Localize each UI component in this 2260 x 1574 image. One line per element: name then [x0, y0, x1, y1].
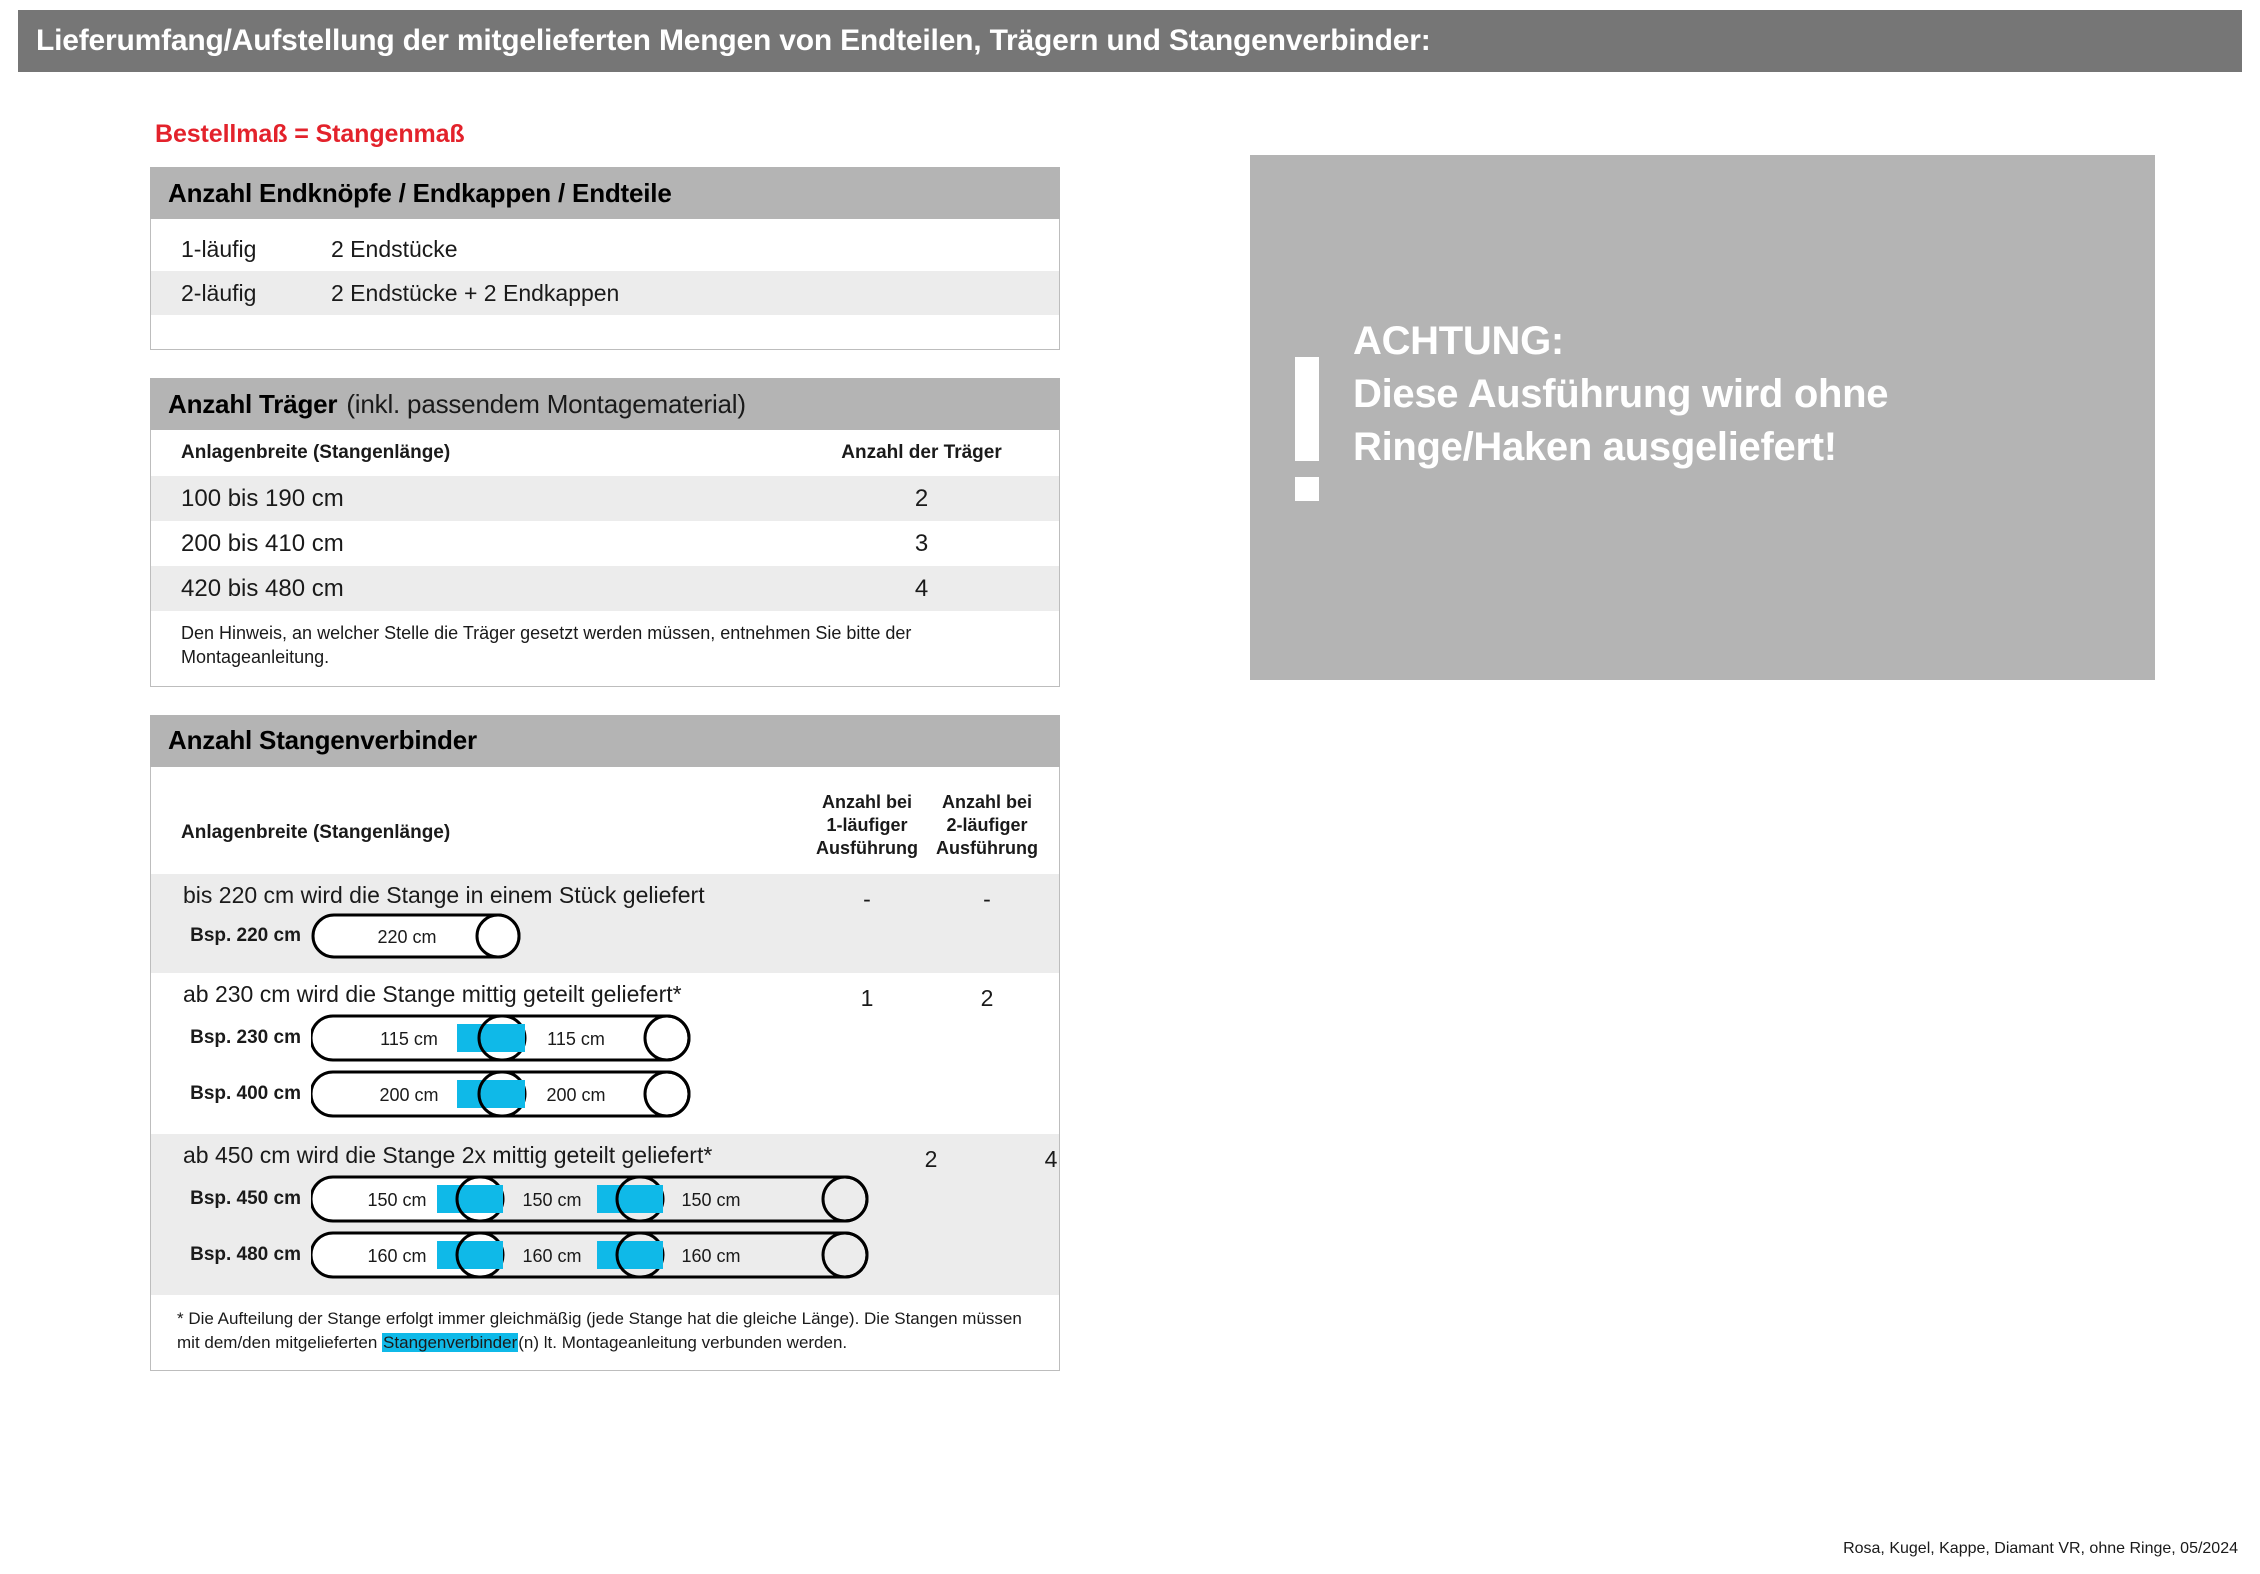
rod-segment-label: 160 cm: [367, 1246, 426, 1266]
table-row: 200 bis 410 cm 3: [151, 521, 1059, 566]
exclamation-bar: [1295, 357, 1319, 461]
table-row: 420 bis 480 cm 4: [151, 566, 1059, 611]
rod-segment-label: 115 cm: [380, 1029, 438, 1049]
group-caption: bis 220 cm wird die Stange in einem Stüc…: [151, 882, 807, 909]
rod-segment-label: 150 cm: [367, 1190, 426, 1210]
left-content-column: Bestellmaß = Stangenmaß Anzahl Endknöpfe…: [150, 120, 1060, 1399]
attention-line-3: Ringe/Haken ausgeliefert!: [1353, 421, 1888, 474]
connector-block: [457, 1080, 525, 1108]
section-traeger: Anzahl Träger (inkl. passendem Montagema…: [150, 378, 1060, 687]
connector-block: [597, 1241, 663, 1269]
traeger-count: 3: [814, 530, 1029, 558]
column-header-line: Ausführung: [807, 837, 927, 860]
column-header-anzahl-traeger: Anzahl der Träger: [814, 442, 1029, 464]
page-title: Lieferumfang/Aufstellung der mitgeliefer…: [18, 24, 1431, 58]
traeger-width: 100 bis 190 cm: [181, 485, 814, 513]
connector-block: [437, 1241, 503, 1269]
rod-example-label: Bsp. 230 cm: [151, 1027, 311, 1049]
section-traeger-body: Anlagenbreite (Stangenlänge) Anzahl der …: [150, 430, 1060, 687]
footnote-highlight: Stangenverbinder: [382, 1333, 518, 1352]
column-header-line: 2-läufiger: [927, 814, 1047, 837]
section-traeger-header: Anzahl Träger (inkl. passendem Montagema…: [150, 378, 1060, 430]
rod-diagram-400: 200 cm 200 cm: [311, 1068, 691, 1120]
column-header-anzahl-1laeufig: Anzahl bei 1-läufiger Ausführung: [807, 791, 927, 860]
rod-segment-label: 115 cm: [547, 1029, 605, 1049]
rod-example-label: Bsp. 220 cm: [151, 925, 311, 947]
column-header-line: Anzahl bei: [807, 791, 927, 814]
column-header-anzahl-2laeufig: Anzahl bei 2-läufiger Ausführung: [927, 791, 1047, 860]
table-header-row: Anlagenbreite (Stangenlänge) Anzahl der …: [151, 430, 1059, 476]
traeger-width: 420 bis 480 cm: [181, 575, 814, 603]
group-count-2laeufig: 2: [927, 973, 1047, 1012]
rod-example: Bsp. 220 cm 220 cm: [151, 913, 807, 959]
column-header-anlagenbreite: Anlagenbreite (Stangenlänge): [151, 822, 807, 860]
connector-block: [437, 1185, 503, 1213]
section-stangenverbinder-title: Anzahl Stangenverbinder: [168, 725, 477, 756]
group-caption: ab 450 cm wird die Stange 2x mittig gete…: [151, 1142, 871, 1169]
exclamation-icon: [1295, 315, 1319, 501]
endteile-parts: 2 Endstücke + 2 Endkappen: [331, 280, 1059, 307]
group-content: ab 450 cm wird die Stange 2x mittig gete…: [151, 1134, 871, 1295]
group-count-1laeufig: 2: [871, 1134, 991, 1173]
rod-segment-label: 150 cm: [681, 1190, 740, 1210]
section-endteile: Anzahl Endknöpfe / Endkappen / Endteile …: [150, 167, 1060, 350]
rod-segment-label: 220 cm: [377, 927, 436, 947]
rod-example: Bsp. 480 cm 160 cm 160 cm 160 cm: [151, 1229, 871, 1281]
rod-segment-label: 160 cm: [522, 1246, 581, 1266]
table-header-row: Anlagenbreite (Stangenlänge) Anzahl bei …: [151, 767, 1059, 874]
column-header-line: 1-läufiger: [807, 814, 927, 837]
attention-line-1: ACHTUNG:: [1353, 315, 1888, 368]
table-row: 100 bis 190 cm 2: [151, 476, 1059, 521]
section-endteile-header: Anzahl Endknöpfe / Endkappen / Endteile: [150, 167, 1060, 219]
section-traeger-subtitle: (inkl. passendem Montagematerial): [346, 389, 745, 420]
attention-box: ACHTUNG: Diese Ausführung wird ohne Ring…: [1250, 155, 2155, 680]
connector-block: [457, 1024, 525, 1052]
group-content: ab 230 cm wird die Stange mittig geteilt…: [151, 973, 807, 1134]
group-count-2laeufig: 4: [991, 1134, 1111, 1173]
footnote-text-part2: (n) lt. Montageanleitung verbunden werde…: [518, 1333, 847, 1352]
rod-example: Bsp. 230 cm 115 cm 115 cm: [151, 1012, 807, 1064]
table-row: 1-läufig 2 Endstücke: [151, 227, 1059, 271]
rod-diagram-450: 150 cm 150 cm 150 cm: [311, 1173, 871, 1225]
rod-segment-label: 200 cm: [379, 1085, 438, 1105]
attention-content: ACHTUNG: Diese Ausführung wird ohne Ring…: [1295, 315, 1888, 501]
attention-line-2: Diese Ausführung wird ohne: [1353, 368, 1888, 421]
rod-example-label: Bsp. 400 cm: [151, 1083, 311, 1105]
exclamation-dot: [1295, 477, 1319, 501]
connector-block: [597, 1185, 663, 1213]
rod-diagram-220: 220 cm: [311, 913, 521, 959]
group-count-2laeufig: -: [927, 874, 1047, 913]
group-caption: ab 230 cm wird die Stange mittig geteilt…: [151, 981, 807, 1008]
rod-segment-label: 160 cm: [681, 1246, 740, 1266]
endteile-parts: 2 Endstücke: [331, 236, 1059, 263]
footer-note: Rosa, Kugel, Kappe, Diamant VR, ohne Rin…: [1843, 1540, 2238, 1558]
subtitle-bestellmass: Bestellmaß = Stangenmaß: [155, 120, 1060, 149]
column-header-line: Ausführung: [927, 837, 1047, 860]
column-header-line: Anzahl bei: [927, 791, 1047, 814]
rod-example-label: Bsp. 450 cm: [151, 1188, 311, 1210]
section-endteile-body: 1-läufig 2 Endstücke 2-läufig 2 Endstück…: [150, 219, 1060, 350]
rod-example: Bsp. 450 cm 150 cm 150 cm 150 cm: [151, 1173, 871, 1225]
rod-diagram-230: 115 cm 115 cm: [311, 1012, 691, 1064]
section-stangenverbinder: Anzahl Stangenverbinder Anlagenbreite (S…: [150, 715, 1060, 1371]
rod-segment-label: 200 cm: [546, 1085, 605, 1105]
section-endteile-title: Anzahl Endknöpfe / Endkappen / Endteile: [168, 178, 672, 209]
rod-example-label: Bsp. 480 cm: [151, 1244, 311, 1266]
section-stangenverbinder-header: Anzahl Stangenverbinder: [150, 715, 1060, 767]
endteile-type: 1-läufig: [181, 236, 331, 263]
section-stangenverbinder-body: Anlagenbreite (Stangenlänge) Anzahl bei …: [150, 767, 1060, 1371]
rod-example: Bsp. 400 cm 200 cm 200 cm: [151, 1068, 807, 1120]
endteile-type: 2-läufig: [181, 280, 331, 307]
traeger-count: 2: [814, 485, 1029, 513]
section-traeger-title: Anzahl Träger: [168, 389, 337, 420]
traeger-count: 4: [814, 575, 1029, 603]
stangenverbinder-group: bis 220 cm wird die Stange in einem Stüc…: [151, 874, 1059, 973]
group-count-1laeufig: -: [807, 874, 927, 913]
rod-diagram-480: 160 cm 160 cm 160 cm: [311, 1229, 871, 1281]
traeger-note: Den Hinweis, an welcher Stelle die Träge…: [151, 611, 1059, 676]
stangenverbinder-group: ab 230 cm wird die Stange mittig geteilt…: [151, 973, 1059, 1134]
column-header-anlagenbreite: Anlagenbreite (Stangenlänge): [181, 442, 814, 464]
traeger-width: 200 bis 410 cm: [181, 530, 814, 558]
attention-text-block: ACHTUNG: Diese Ausführung wird ohne Ring…: [1353, 315, 1888, 473]
group-count-1laeufig: 1: [807, 973, 927, 1012]
group-content: bis 220 cm wird die Stange in einem Stüc…: [151, 874, 807, 973]
stangenverbinder-group: ab 450 cm wird die Stange 2x mittig gete…: [151, 1134, 1059, 1295]
page-header-bar: Lieferumfang/Aufstellung der mitgeliefer…: [18, 10, 2242, 72]
stangenverbinder-footnote: * Die Aufteilung der Stange erfolgt imme…: [151, 1295, 1059, 1370]
table-row: 2-läufig 2 Endstücke + 2 Endkappen: [151, 271, 1059, 315]
rod-segment-label: 150 cm: [522, 1190, 581, 1210]
